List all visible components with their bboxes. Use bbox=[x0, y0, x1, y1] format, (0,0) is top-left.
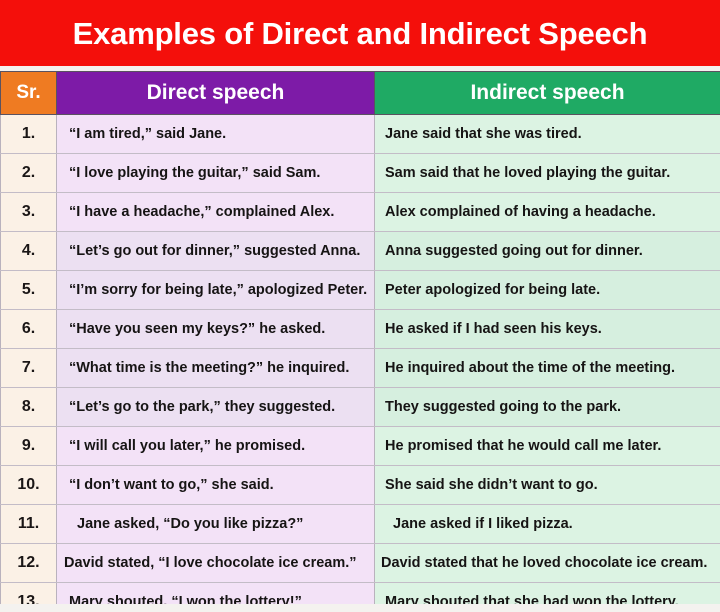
cell-indirect-speech: Sam said that he loved playing the guita… bbox=[375, 154, 720, 193]
cell-serial-number: 11. bbox=[1, 505, 57, 544]
cell-indirect-speech: Jane asked if I liked pizza. bbox=[375, 505, 720, 544]
cell-direct-speech: “I don’t want to go,” she said. bbox=[57, 466, 375, 505]
table-row: 2.“I love playing the guitar,” said Sam.… bbox=[1, 154, 720, 193]
table-row: 8.“Let’s go to the park,” they suggested… bbox=[1, 388, 720, 427]
table-row: 9.“I will call you later,” he promised.H… bbox=[1, 427, 720, 466]
cell-serial-number: 3. bbox=[1, 193, 57, 232]
cell-serial-number: 1. bbox=[1, 115, 57, 154]
cell-direct-speech: “I’m sorry for being late,” apologized P… bbox=[57, 271, 375, 310]
cell-serial-number: 2. bbox=[1, 154, 57, 193]
table-row: 1.“I am tired,” said Jane.Jane said that… bbox=[1, 115, 720, 154]
cell-indirect-speech: He asked if I had seen his keys. bbox=[375, 310, 720, 349]
cell-direct-speech: “I have a headache,” complained Alex. bbox=[57, 193, 375, 232]
cell-indirect-speech: She said she didn’t want to go. bbox=[375, 466, 720, 505]
cell-direct-speech: David stated, “I love chocolate ice crea… bbox=[57, 544, 375, 583]
speech-table: Sr. Direct speech Indirect speech 1.“I a… bbox=[0, 71, 720, 612]
cell-indirect-speech: They suggested going to the park. bbox=[375, 388, 720, 427]
page-title: Examples of Direct and Indirect Speech bbox=[73, 18, 648, 49]
column-header-sr: Sr. bbox=[1, 72, 57, 115]
cell-serial-number: 9. bbox=[1, 427, 57, 466]
cell-indirect-speech: Alex complained of having a headache. bbox=[375, 193, 720, 232]
title-banner: Examples of Direct and Indirect Speech bbox=[0, 0, 720, 66]
column-header-direct: Direct speech bbox=[57, 72, 375, 115]
cell-serial-number: 12. bbox=[1, 544, 57, 583]
table-row: 4.“Let’s go out for dinner,” suggested A… bbox=[1, 232, 720, 271]
cell-indirect-speech: Jane said that she was tired. bbox=[375, 115, 720, 154]
header-row: Sr. Direct speech Indirect speech bbox=[1, 72, 720, 115]
cell-indirect-speech: Peter apologized for being late. bbox=[375, 271, 720, 310]
cell-serial-number: 4. bbox=[1, 232, 57, 271]
table-body: 1.“I am tired,” said Jane.Jane said that… bbox=[1, 115, 720, 612]
table-row: 10.“I don’t want to go,” she said.She sa… bbox=[1, 466, 720, 505]
cell-indirect-speech: He promised that he would call me later. bbox=[375, 427, 720, 466]
table-row: 12.David stated, “I love chocolate ice c… bbox=[1, 544, 720, 583]
speech-table-container: Sr. Direct speech Indirect speech 1.“I a… bbox=[0, 71, 720, 612]
cell-serial-number: 8. bbox=[1, 388, 57, 427]
cell-indirect-speech: He inquired about the time of the meetin… bbox=[375, 349, 720, 388]
cell-direct-speech: “Let’s go out for dinner,” suggested Ann… bbox=[57, 232, 375, 271]
page-root: Examples of Direct and Indirect Speech E… bbox=[0, 0, 720, 612]
cell-direct-speech: “Have you seen my keys?” he asked. bbox=[57, 310, 375, 349]
table-row: 6.“Have you seen my keys?” he asked.He a… bbox=[1, 310, 720, 349]
cell-serial-number: 6. bbox=[1, 310, 57, 349]
cell-serial-number: 5. bbox=[1, 271, 57, 310]
cell-direct-speech: “I love playing the guitar,” said Sam. bbox=[57, 154, 375, 193]
table-row: 3.“I have a headache,” complained Alex.A… bbox=[1, 193, 720, 232]
cell-direct-speech: “I will call you later,” he promised. bbox=[57, 427, 375, 466]
cell-indirect-speech: Anna suggested going out for dinner. bbox=[375, 232, 720, 271]
cell-direct-speech: “What time is the meeting?” he inquired. bbox=[57, 349, 375, 388]
cell-direct-speech: “I am tired,” said Jane. bbox=[57, 115, 375, 154]
table-header: Sr. Direct speech Indirect speech bbox=[1, 72, 720, 115]
column-header-indirect: Indirect speech bbox=[375, 72, 720, 115]
bottom-strip bbox=[0, 604, 720, 612]
cell-serial-number: 10. bbox=[1, 466, 57, 505]
cell-indirect-speech: David stated that he loved chocolate ice… bbox=[375, 544, 720, 583]
cell-direct-speech: Jane asked, “Do you like pizza?” bbox=[57, 505, 375, 544]
cell-direct-speech: “Let’s go to the park,” they suggested. bbox=[57, 388, 375, 427]
table-row: 5.“I’m sorry for being late,” apologized… bbox=[1, 271, 720, 310]
cell-serial-number: 7. bbox=[1, 349, 57, 388]
table-row: 11.Jane asked, “Do you like pizza?”Jane … bbox=[1, 505, 720, 544]
table-row: 7.“What time is the meeting?” he inquire… bbox=[1, 349, 720, 388]
